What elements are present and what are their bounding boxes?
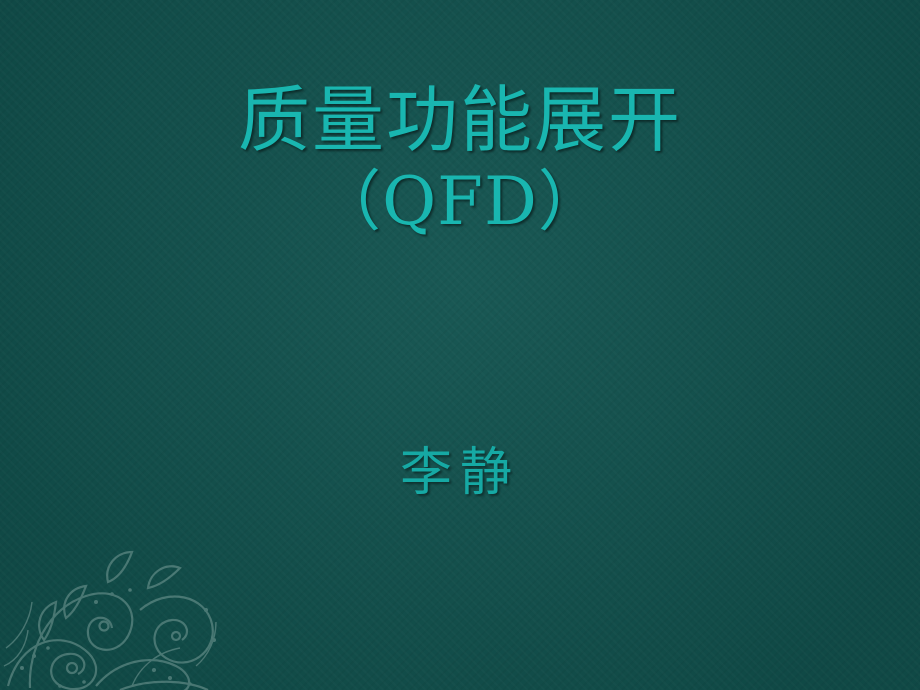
presentation-slide: 质量功能展开 （QFD） 李静 (0, 0, 920, 690)
floral-paisley-corner-ornament-icon (0, 490, 300, 690)
slide-title: 质量功能展开 （QFD） (0, 82, 920, 237)
title-line-secondary: （QFD） (0, 166, 920, 237)
title-line-primary: 质量功能展开 (0, 82, 920, 160)
slide-author: 李静 (0, 430, 920, 505)
